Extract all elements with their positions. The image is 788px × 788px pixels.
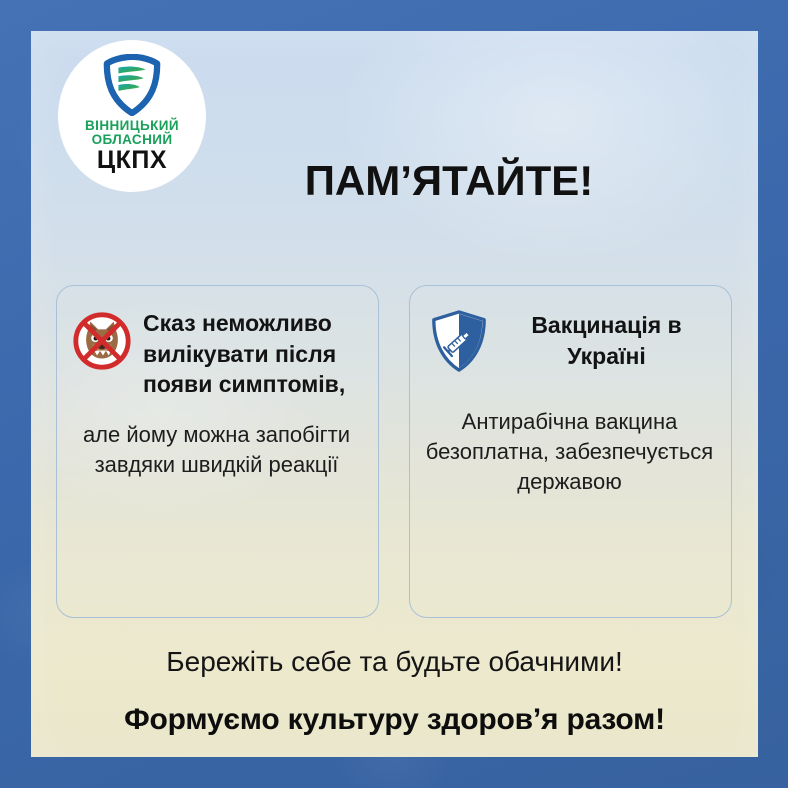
- logo-line-2: ОБЛАСНИЙ: [92, 133, 173, 147]
- card-rabies-body: але йому можна запобігти завдяки швидкій…: [71, 420, 362, 480]
- no-rabid-dog-icon: [71, 310, 133, 377]
- card-rabies-heading: Сказ неможливо вилікувати після появи си…: [143, 308, 362, 400]
- logo-abbreviation: ЦКПХ: [97, 148, 167, 173]
- shield-leaf-logo-icon: [101, 54, 163, 116]
- content-panel: ВІННИЦЬКИЙ ОБЛАСНИЙ ЦКПХ ПАМ’ЯТАЙТЕ!: [31, 31, 758, 757]
- card-rabies-header: Сказ неможливо вилікувати після появи си…: [71, 308, 362, 400]
- footer-line-2: Формуємо культуру здоров’я разом!: [31, 703, 758, 737]
- card-vaccination-body: Антирабічна вакцина безоплатна, забезпеч…: [424, 407, 715, 497]
- shield-syringe-icon: [430, 310, 488, 377]
- info-cards-row: Сказ неможливо вилікувати після появи си…: [56, 285, 733, 618]
- poster-canvas: ВІННИЦЬКИЙ ОБЛАСНИЙ ЦКПХ ПАМ’ЯТАЙТЕ!: [0, 0, 788, 788]
- card-vaccination-header: Вакцинація в Україні: [424, 308, 715, 377]
- page-title: ПАМ’ЯТАЙТЕ!: [209, 157, 689, 205]
- card-vaccination: Вакцинація в Україні Антирабічна вакцина…: [409, 285, 732, 618]
- card-rabies: Сказ неможливо вилікувати після появи си…: [56, 285, 379, 618]
- footer-line-1: Бережіть себе та будьте обачними!: [31, 646, 758, 678]
- logo-line-1: ВІННИЦЬКИЙ: [85, 119, 179, 133]
- organization-logo-badge: ВІННИЦЬКИЙ ОБЛАСНИЙ ЦКПХ: [58, 40, 206, 192]
- card-vaccination-heading: Вакцинація в Україні: [498, 310, 715, 371]
